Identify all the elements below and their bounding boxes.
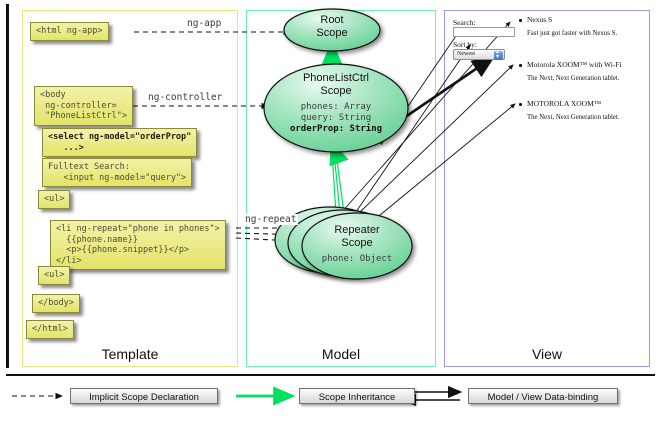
legend-model-view-data-binding: Model / View Data-binding <box>468 388 618 404</box>
scope-repeater-title: Repeater Scope <box>307 224 407 250</box>
chevron-updown-icon[interactable] <box>494 51 503 60</box>
view-sort-selected-value: Newest <box>457 51 475 57</box>
scope-root-title: Root Scope <box>284 14 380 40</box>
code-box-html-close[interactable]: </html> <box>26 320 74 339</box>
code-box-ul-close[interactable]: <ul> <box>38 266 70 285</box>
scope-repeater-props: phone: Object <box>307 254 407 264</box>
scope-prop-orderprop: orderProp: String <box>266 124 406 135</box>
code-box-body-open[interactable]: <body ng-controller= "PhoneListCtrl"> <box>34 86 133 126</box>
scope-prop-phones: phones: Array <box>266 102 406 113</box>
phone-snippet: Fast just got faster with Nexus S. <box>527 30 617 37</box>
column-label-template: Template <box>23 346 237 362</box>
scope-phonelistctrl-title-line2: Scope <box>266 85 406 98</box>
scope-phonelistctrl-props: phones: Array query: String orderProp: S… <box>266 102 406 135</box>
scope-phonelistctrl-title: PhoneListCtrl Scope <box>266 72 406 98</box>
phone-name[interactable]: Nexus S <box>527 15 552 24</box>
column-template: Template <box>22 10 238 367</box>
phone-name[interactable]: MOTOROLA XOOM™ <box>527 99 601 108</box>
list-bullet <box>519 64 522 67</box>
phone-snippet: The Next, Next Generation tablet. <box>527 75 619 82</box>
diagram-canvas: Template Model View <box>0 0 661 425</box>
column-label-view: View <box>445 346 649 362</box>
list-bullet <box>519 19 522 22</box>
scope-prop-query: query: String <box>266 113 406 124</box>
bottom-divider <box>6 374 655 376</box>
edge-label-ng-repeat: ng-repeat <box>243 214 298 225</box>
scope-repeater-title-line1: Repeater <box>307 224 407 237</box>
scope-root-title-line1: Root <box>284 14 380 27</box>
list-bullet <box>519 103 522 106</box>
column-label-model: Model <box>247 346 435 362</box>
phone-snippet: The Next, Next Generation tablet. <box>527 114 619 121</box>
legend-scope-inheritance: Scope Inheritance <box>299 388 415 404</box>
edge-label-ng-controller: ng-controller <box>146 92 224 103</box>
code-box-html-open[interactable]: <html ng-app> <box>30 22 109 41</box>
scope-root-title-line2: Scope <box>284 27 380 40</box>
scope-repeater-title-line2: Scope <box>307 237 407 250</box>
code-box-li-ng-repeat[interactable]: <li ng-repeat="phone in phones"> {{phone… <box>50 220 226 270</box>
column-model: Model <box>246 10 436 367</box>
view-search-label: Search: <box>453 18 476 27</box>
code-box-body-close[interactable]: </body> <box>32 294 80 313</box>
left-edge-bar <box>6 4 9 368</box>
code-box-ul-open[interactable]: <ul> <box>38 190 70 209</box>
edge-label-ng-app: ng-app <box>185 18 223 29</box>
scope-phonelistctrl-title-line1: PhoneListCtrl <box>266 72 406 85</box>
view-sort-select[interactable]: Newest <box>453 49 505 60</box>
code-box-search-input[interactable]: Fulltext Search: <input ng-model="query"… <box>42 158 192 187</box>
view-sort-label: Sort by: <box>453 40 477 49</box>
legend-implicit-scope-declaration: Implicit Scope Declaration <box>70 388 218 404</box>
phone-name[interactable]: Motorola XOOM™ with Wi-Fi <box>527 60 622 69</box>
view-search-input[interactable] <box>453 27 515 37</box>
code-box-select[interactable]: <select ng-model="orderProp" ...> <box>42 128 197 157</box>
